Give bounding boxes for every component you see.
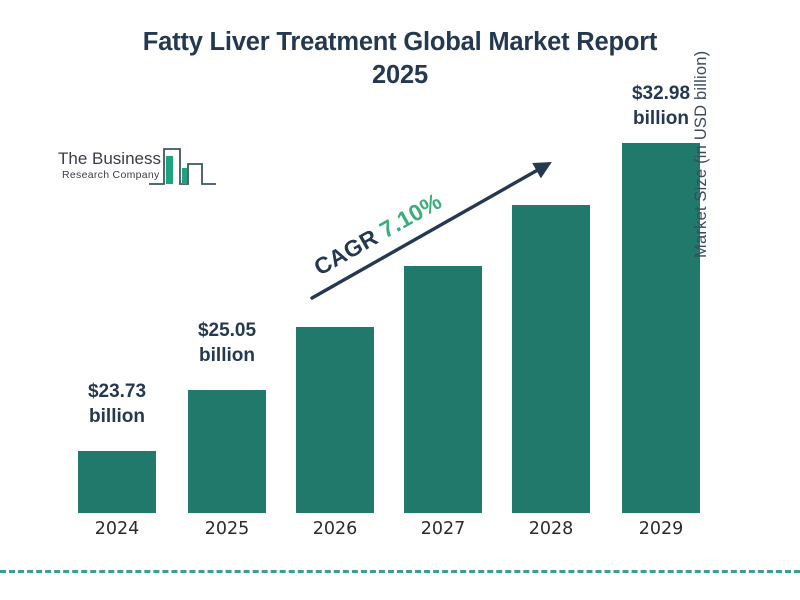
bar-value-label-2025: $25.05 billion <box>167 318 287 368</box>
y-axis-title: Market Size (in USD billion) <box>692 0 711 258</box>
bar-2028 <box>512 205 590 513</box>
bar-2026 <box>296 327 374 513</box>
x-axis-tick-2024: 2024 <box>57 519 177 539</box>
x-axis-tick-2029: 2029 <box>601 519 721 539</box>
bar-value-label-2024: $23.73 billion <box>57 379 177 429</box>
footer-divider <box>0 570 800 573</box>
x-axis-tick-2028: 2028 <box>491 519 611 539</box>
bar-2024 <box>78 451 156 513</box>
x-axis-tick-2027: 2027 <box>383 519 503 539</box>
x-axis-tick-2026: 2026 <box>275 519 395 539</box>
bar-2025 <box>188 390 266 513</box>
x-axis-tick-2025: 2025 <box>167 519 287 539</box>
bar-2027 <box>404 266 482 513</box>
chart-canvas: Fatty Liver Treatment Global Market Repo… <box>0 0 800 600</box>
plot-area: $23.73 billion2024$25.05 billion20252026… <box>0 0 800 600</box>
bar-2029 <box>622 143 700 513</box>
